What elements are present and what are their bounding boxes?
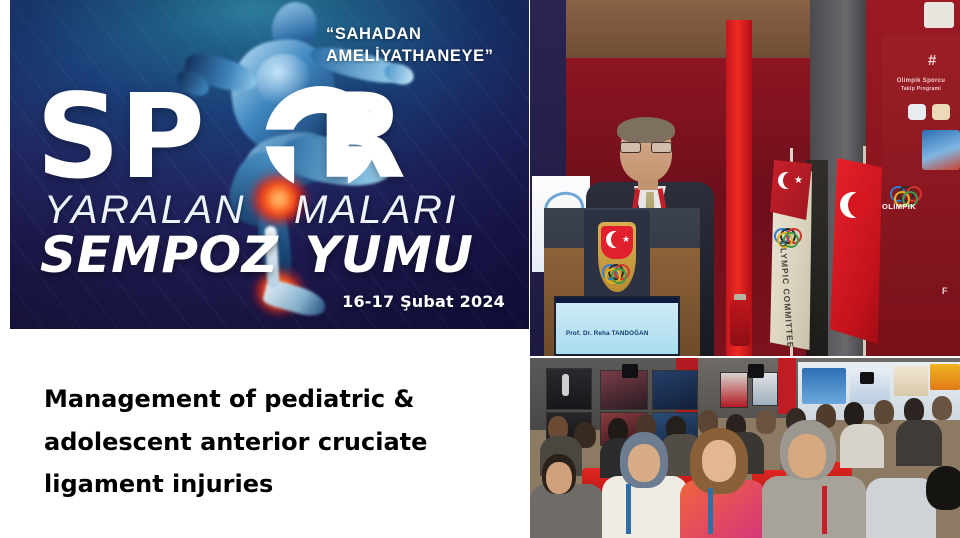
audience-member [844,402,864,426]
booth-panel-4 [930,364,960,390]
poster-event-left: SEMPOZ [40,226,278,284]
speaker-hair [617,117,675,143]
poster-quote-line-2: AMELİYATHANEYE” [326,47,494,65]
banner-logo-1 [908,104,926,120]
wall-poster-1 [546,368,592,410]
caption-line-1: Management of pediatric & [44,378,484,421]
poster-subtitle: YARALANMALARI [44,190,529,230]
wall-poster-3 [652,370,698,410]
sponsor-banner [882,36,960,304]
poster-quote-line-1: “SAHADAN [326,25,422,43]
audience-front-face [546,462,572,494]
ceiling-speaker-2 [748,364,764,378]
audience-front-face [702,440,736,482]
ceiling-light [924,2,954,28]
audience-member [904,398,924,422]
ceiling-speaker-3 [860,372,874,384]
banner-olympic-rings-icon [890,186,930,199]
audience-member [874,400,894,424]
poster-event-name: SEMPOZYUMU [40,230,529,280]
audience-body [896,420,942,466]
olympic-committee-flag-red-top [770,160,812,220]
poster-title-left: SP [36,68,204,205]
booth-panel-3 [894,366,928,396]
booth-panel-1 [802,368,846,404]
banner-athlete-graphic [922,130,960,170]
turkish-flag [830,158,882,344]
banner-line-1: Olimpik Sporcu [884,78,958,84]
confidence-monitor [554,296,680,356]
emblem-star-icon: ★ [622,235,630,244]
slide-caption: Management of pediatric & adolescent ant… [44,378,484,506]
turkish-flag-crescent-inner [848,192,871,218]
poster-date: 16-17 Şubat 2024 [342,292,505,311]
emblem-olympic-rings-icon [602,264,632,275]
lanyard [708,488,713,534]
slide-canvas: “SAHADAN AMELİYATHANEYE” SPR YARALANMALA… [0,0,960,538]
poster-event-right: YUMU [304,226,473,284]
poster-quote: “SAHADAN AMELİYATHANEYE” [326,24,529,68]
wall-poster-7 [720,372,748,408]
flag-olympic-rings-icon [774,228,804,239]
banner-hashtag: # [928,52,936,69]
fire-extinguisher [730,300,750,346]
monitor-speaker-name: Prof. Dr. Reha TANDOĞAN [566,330,649,337]
caption-line-2: adolescent anterior cruciate [44,421,484,464]
audience-body [840,424,884,468]
lanyard [822,486,827,534]
flag-star-icon: ★ [794,176,803,186]
banner-olimpik-label: OLİMPİK [882,202,916,211]
lanyard [626,484,631,534]
audience-front-face [788,434,826,478]
eyeglasses-icon [620,142,672,151]
audience-member [756,410,776,434]
speaker-podium-photo: # Olimpik Sporcu Takip Programi OLİMPİK … [530,0,960,356]
poster-title-spor: SPR [36,78,529,195]
audience-front-head [926,466,960,510]
audience-member [932,396,952,420]
ceiling-speaker-1 [622,364,638,378]
audience-photo [530,358,960,538]
audience-front-body [762,476,866,538]
audience-front-face [628,444,660,482]
banner-line-2: Takip Programi [884,86,958,92]
red-column-2 [778,358,796,414]
symposium-poster-image: “SAHADAN AMELİYATHANEYE” SPR YARALANMALA… [10,0,529,329]
poster-figure-1 [562,374,569,396]
banner-f-letter: F [942,286,948,296]
banner-logo-2 [932,104,950,120]
caption-line-3: ligament injuries [44,463,484,506]
